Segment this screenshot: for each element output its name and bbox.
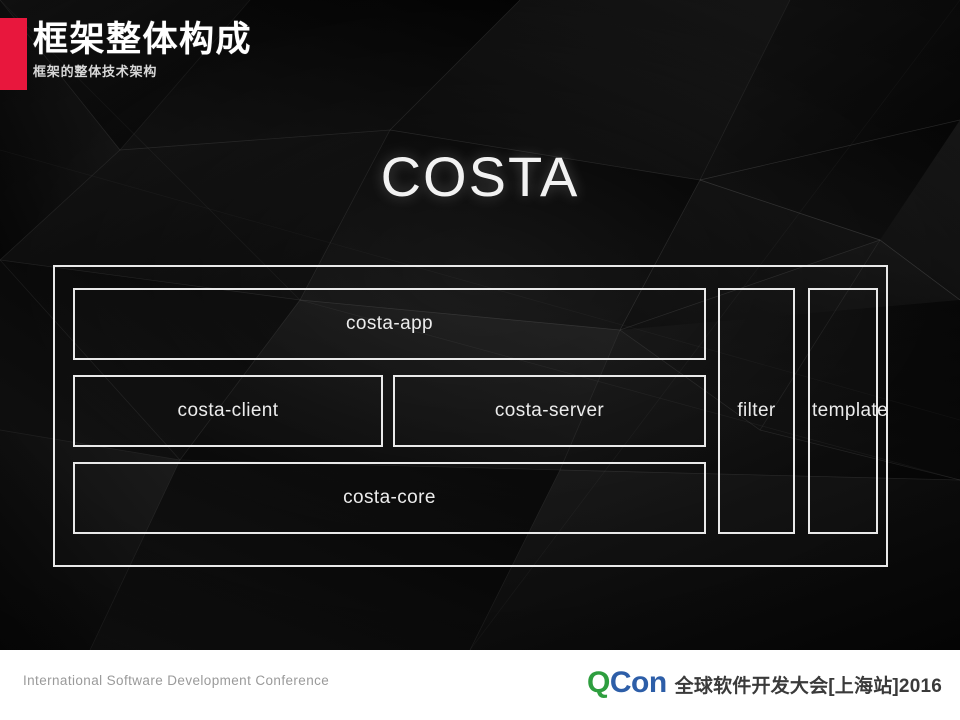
architecture-diagram: costa-app costa-client costa-server cost… <box>53 265 888 567</box>
main-heading: COSTA <box>0 146 960 208</box>
diagram-box-costa-server[interactable]: costa-server <box>393 375 706 447</box>
page-subtitle: 框架的整体技术架构 <box>33 63 453 81</box>
footer-tagline: International Software Development Confe… <box>23 673 329 688</box>
qcon-logo: Q Con 全球软件开发大会[上海站]2016 <box>587 668 942 702</box>
diagram-box-label: costa-server <box>495 398 604 424</box>
page-title: 框架整体构成 <box>33 16 453 64</box>
diagram-box-label: costa-client <box>178 398 279 424</box>
diagram-box-costa-core[interactable]: costa-core <box>73 462 706 534</box>
diagram-box-costa-client[interactable]: costa-client <box>73 375 383 447</box>
diagram-box-label: template <box>812 398 874 424</box>
diagram-box-label: costa-core <box>343 485 436 511</box>
header-text-group: 框架整体构成 框架的整体技术架构 <box>33 16 453 81</box>
diagram-box-label: costa-app <box>346 311 433 337</box>
qcon-logo-con: Con <box>610 668 667 698</box>
diagram-box-template[interactable]: template <box>808 288 878 534</box>
qcon-logo-chinese: 全球软件开发大会[上海站]2016 <box>675 672 942 702</box>
diagram-box-label: filter <box>737 398 775 424</box>
slide-canvas: 框架整体构成 框架的整体技术架构 COSTA costa-app costa-c… <box>0 0 960 720</box>
header-accent-bar <box>0 18 27 90</box>
diagram-box-filter[interactable]: filter <box>718 288 795 534</box>
diagram-box-costa-app[interactable]: costa-app <box>73 288 706 360</box>
qcon-logo-q: Q <box>587 668 610 698</box>
slide-footer: International Software Development Confe… <box>0 650 960 720</box>
